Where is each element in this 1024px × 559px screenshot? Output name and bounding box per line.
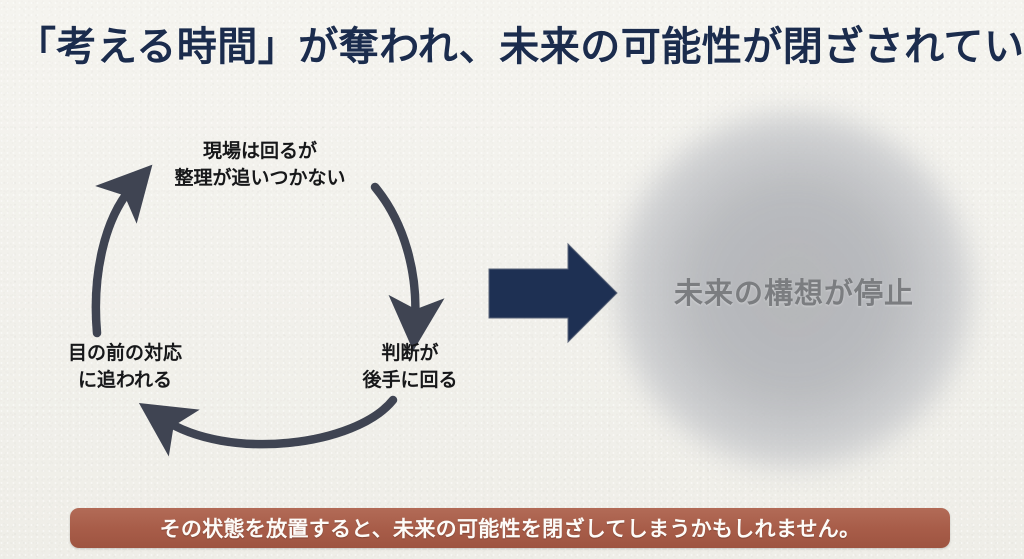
cycle-label-left-line2: に追われる [30,367,220,394]
cycle-label-right-line1: 判断が [330,340,490,367]
outcome-label: 未来の構想が停止 [614,270,974,312]
page-title: 「考える時間」が奪われ、未来の可能性が閉ざされていく。 [16,20,1016,74]
slide-canvas: 「考える時間」が奪われ、未来の可能性が閉ざされていく。 現場は回るが 整理が追い… [0,0,1024,559]
cycle-arrow-bottom-left [163,400,393,444]
cycle-label-top-line2: 整理が追いつかない [140,165,380,192]
cycle-label-left: 目の前の対応 に追われる [30,340,220,394]
cycle-label-top-line1: 現場は回るが [140,138,380,165]
cycle-label-left-line1: 目の前の対応 [30,340,220,367]
bottom-banner: その状態を放置すると、未来の可能性を閉ざしてしまうかもしれません。 [70,508,950,548]
cycle-label-right: 判断が 後手に回る [330,340,490,394]
block-arrow-right-icon [489,244,617,342]
cycle-label-top: 現場は回るが 整理が追いつかない [140,138,380,192]
cycle-arrow-left-up [96,186,133,333]
cycle-arrow-right-down [375,187,415,322]
cycle-label-right-line2: 後手に回る [330,367,490,394]
bottom-banner-text: その状態を放置すると、未来の可能性を閉ざしてしまうかもしれません。 [160,513,861,543]
